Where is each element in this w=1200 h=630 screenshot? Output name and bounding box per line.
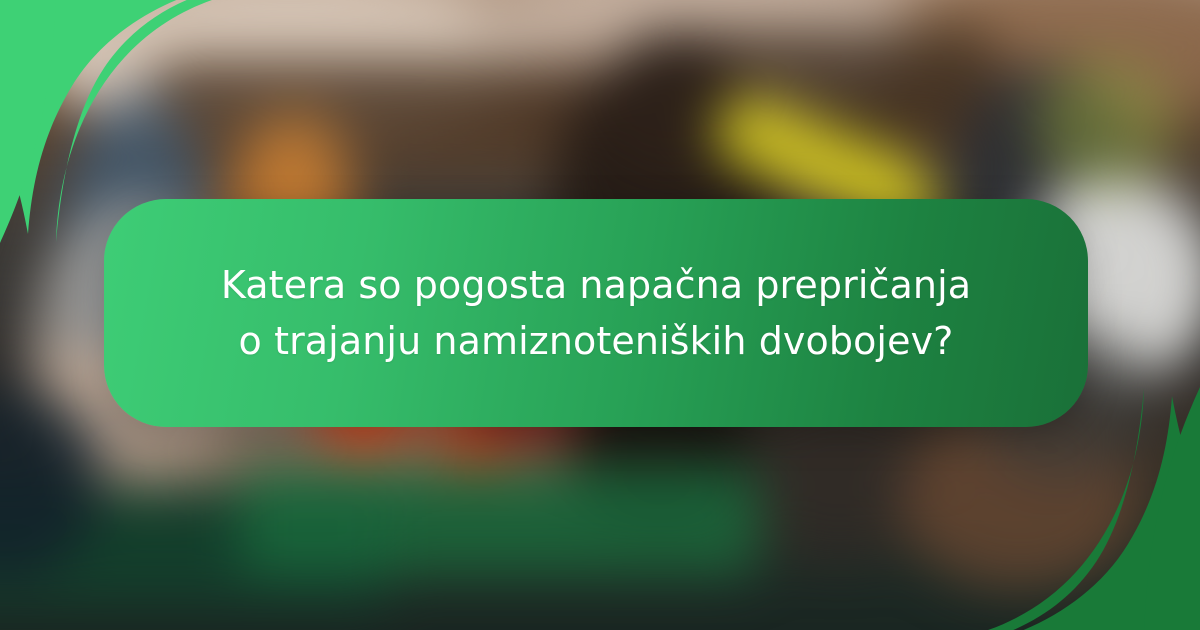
social-card-canvas: Katera so pogosta napačna prepričanja o …	[0, 0, 1200, 630]
question-text: Katera so pogosta napačna prepričanja o …	[216, 257, 976, 369]
question-card: Katera so pogosta napačna prepričanja o …	[104, 199, 1088, 427]
